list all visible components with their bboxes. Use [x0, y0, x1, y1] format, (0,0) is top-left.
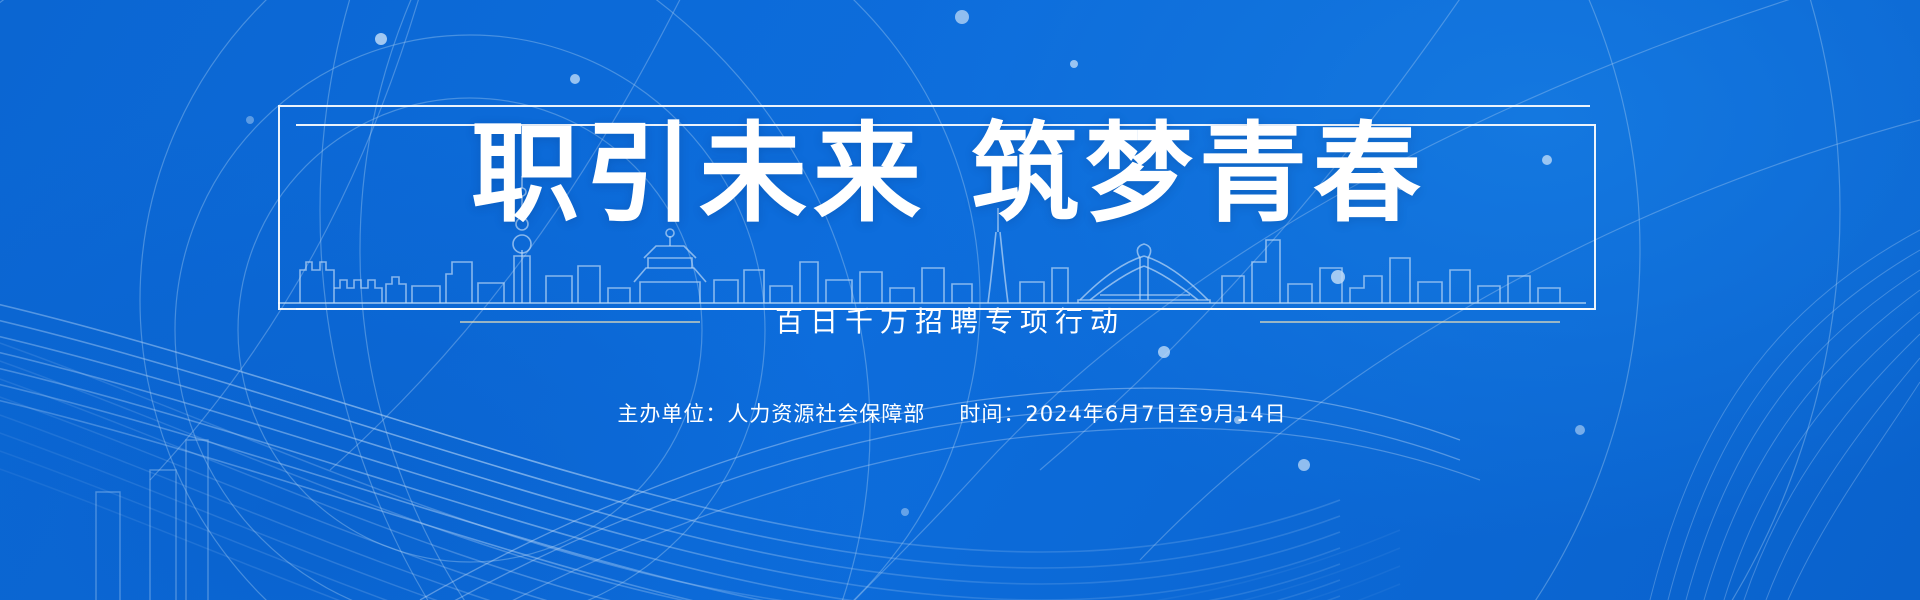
- organizer-text: 主办单位：人力资源社会保障部: [617, 398, 925, 428]
- banner-info-line: 主办单位：人力资源社会保障部时间：2024年6月7日至9月14日: [0, 398, 1912, 428]
- city-skyline-outline-left: [96, 440, 208, 600]
- wave-ribbon-group-2: [0, 336, 1400, 600]
- banner-subtitle: 百日千万招聘专项行动: [0, 300, 1910, 340]
- time-text: 时间：2024年6月7日至9月14日: [959, 398, 1286, 428]
- frame-inner-border: [296, 124, 1596, 310]
- recruitment-banner: 职引未来筑梦青春 百日千万招聘专项行动 主办单位：人力资源社会保障部时间：202…: [0, 0, 1920, 600]
